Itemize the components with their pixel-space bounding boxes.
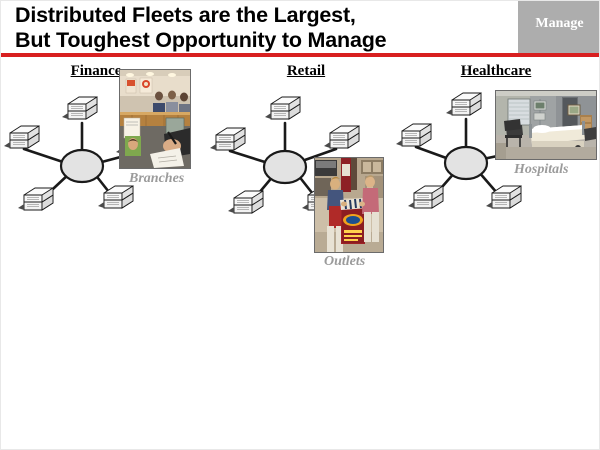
manage-tab-label: Manage xyxy=(518,16,600,32)
page-title: Distributed Fleets are the Largest, But … xyxy=(15,3,525,53)
caption-hospitals: Hospitals xyxy=(514,162,568,178)
photo-hospital-room xyxy=(495,90,597,160)
hospital-room-image xyxy=(496,91,596,159)
photo-bank-branch xyxy=(119,69,191,169)
presentation-slide: Distributed Fleets are the Largest, But … xyxy=(0,0,600,450)
title-divider-rule xyxy=(1,53,600,57)
caption-branches: Branches xyxy=(129,171,184,187)
caption-outlets: Outlets xyxy=(324,254,365,270)
bank-branch-image xyxy=(120,70,190,168)
retail-store-image xyxy=(315,158,383,252)
slide-title-bar: Distributed Fleets are the Largest, But … xyxy=(1,1,600,54)
manage-tab[interactable]: Manage xyxy=(518,1,600,53)
photo-retail-outlet xyxy=(314,157,384,253)
